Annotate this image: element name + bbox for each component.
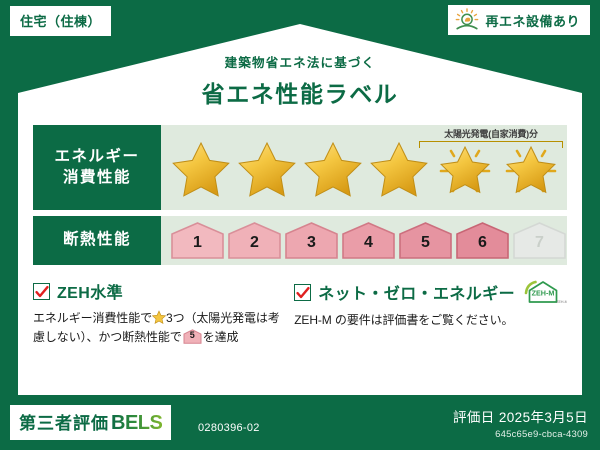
- net-zero-energy-header: ネット・ゼロ・エネルギー ZEH-M ZEH-M: [294, 279, 567, 305]
- insulation-level-number: 1: [193, 235, 202, 260]
- evaluation-date-label: 評価日: [453, 410, 495, 425]
- insulation-label-text: 断熱性能: [63, 230, 131, 251]
- insulation-level-badge: 3: [284, 222, 339, 260]
- insulation-level-inline-badge: 5: [183, 329, 202, 344]
- solar-star-icon: [433, 137, 497, 199]
- net-zero-checkbox[interactable]: [294, 284, 311, 301]
- insulation-performance-label: 断熱性能: [33, 216, 161, 265]
- insulation-level-number: 3: [307, 235, 316, 260]
- certification-checks: ZEH水準 エネルギー消費性能で3つ（太陽光発電は考慮しない）、かつ断熱性能で5…: [33, 279, 567, 346]
- star-icon: [152, 310, 166, 324]
- insulation-level-badge: 6: [455, 222, 510, 260]
- insulation-performance-body: 1 2 3 4: [161, 216, 567, 265]
- zeh-desc-part1: エネルギー消費性能で: [33, 311, 152, 325]
- star-icon: [301, 137, 365, 199]
- net-zero-energy-description: ZEH-M の要件は評価書をご覧ください。: [294, 311, 567, 330]
- insulation-level-number: 7: [535, 235, 544, 260]
- solar-star-icon: [499, 137, 563, 199]
- energy-performance-row: エネルギー 消費性能 太陽光発電(自家消費)分: [33, 125, 567, 210]
- bels-badge: 第三者評価 BELS: [10, 405, 171, 440]
- zeh-standard-header: ZEH水準: [33, 279, 282, 303]
- renewable-equipment-badge: 再エネ設備あり: [448, 5, 590, 35]
- insulation-level-inline-number: 5: [183, 329, 202, 343]
- zeh-standard-block: ZEH水準 エネルギー消費性能で3つ（太陽光発電は考慮しない）、かつ断熱性能で5…: [33, 279, 282, 346]
- svg-text:ZEH-M: ZEH-M: [532, 288, 555, 297]
- housing-type-badge: 住宅（住棟）: [10, 6, 111, 36]
- evaluation-date: 評価日 2025年3月5日: [453, 406, 588, 426]
- label-panel: 建築物省エネ法に基づく 省エネ性能ラベル エネルギー 消費性能 太陽光発電(自家…: [18, 24, 582, 395]
- insulation-performance-row: 断熱性能 1 2 3: [33, 216, 567, 265]
- bels-logo-text: BELS: [111, 412, 162, 435]
- zeh-checkbox[interactable]: [33, 283, 50, 300]
- renewable-badge-label: 再エネ設備あり: [485, 11, 580, 30]
- zeh-standard-description: エネルギー消費性能で3つ（太陽光発電は考慮しない）、かつ断熱性能で5を達成: [33, 309, 282, 346]
- energy-performance-label: エネルギー 消費性能: [33, 125, 161, 210]
- evaluation-info: 評価日 2025年3月5日 645c65e9-cbca-4309: [453, 406, 588, 440]
- insulation-level-badge: 4: [341, 222, 396, 260]
- insulation-level-number: 4: [364, 235, 373, 260]
- insulation-level-badge: 2: [227, 222, 282, 260]
- label-title: 省エネ性能ラベル: [18, 75, 582, 109]
- insulation-level-badge-inactive: 7: [512, 222, 567, 260]
- energy-star-rating: [161, 137, 567, 199]
- insulation-level-badge: 1: [170, 222, 225, 260]
- evaluation-date-value: 2025年3月5日: [499, 410, 588, 425]
- label-subtitle: 建築物省エネ法に基づく: [18, 52, 582, 71]
- svg-text:ZEH-M: ZEH-M: [556, 300, 567, 304]
- solar-sun-icon: [454, 8, 480, 32]
- label-title-block: 建築物省エネ法に基づく 省エネ性能ラベル: [18, 52, 582, 109]
- insulation-level-number: 5: [421, 235, 430, 260]
- net-zero-energy-block: ネット・ゼロ・エネルギー ZEH-M ZEH-M ZEH-M の要件は評価書をご…: [294, 279, 567, 346]
- insulation-level-scale: 1 2 3 4: [161, 222, 567, 260]
- star-icon: [367, 137, 431, 199]
- zeh-standard-title: ZEH水準: [57, 279, 123, 303]
- zeh-desc-part3: を達成: [203, 330, 239, 344]
- zeh-m-logo-icon: ZEH-M ZEH-M: [523, 279, 567, 305]
- third-party-evaluation-label: 第三者評価: [19, 409, 109, 434]
- energy-performance-body: 太陽光発電(自家消費)分: [161, 125, 567, 210]
- energy-performance-label-card: 住宅（住棟） 再エネ設備あり: [0, 0, 600, 450]
- evaluation-id: 645c65e9-cbca-4309: [453, 429, 588, 440]
- insulation-level-number: 2: [250, 235, 259, 260]
- energy-label-line2: 消費性能: [63, 168, 131, 189]
- star-icon: [235, 137, 299, 199]
- bels-certificate-number: 0280396-02: [198, 422, 260, 434]
- energy-label-line1: エネルギー: [54, 147, 139, 168]
- net-zero-energy-title: ネット・ゼロ・エネルギー: [318, 280, 515, 304]
- insulation-level-badge: 5: [398, 222, 453, 260]
- insulation-level-number: 6: [478, 235, 487, 260]
- star-icon: [169, 137, 233, 199]
